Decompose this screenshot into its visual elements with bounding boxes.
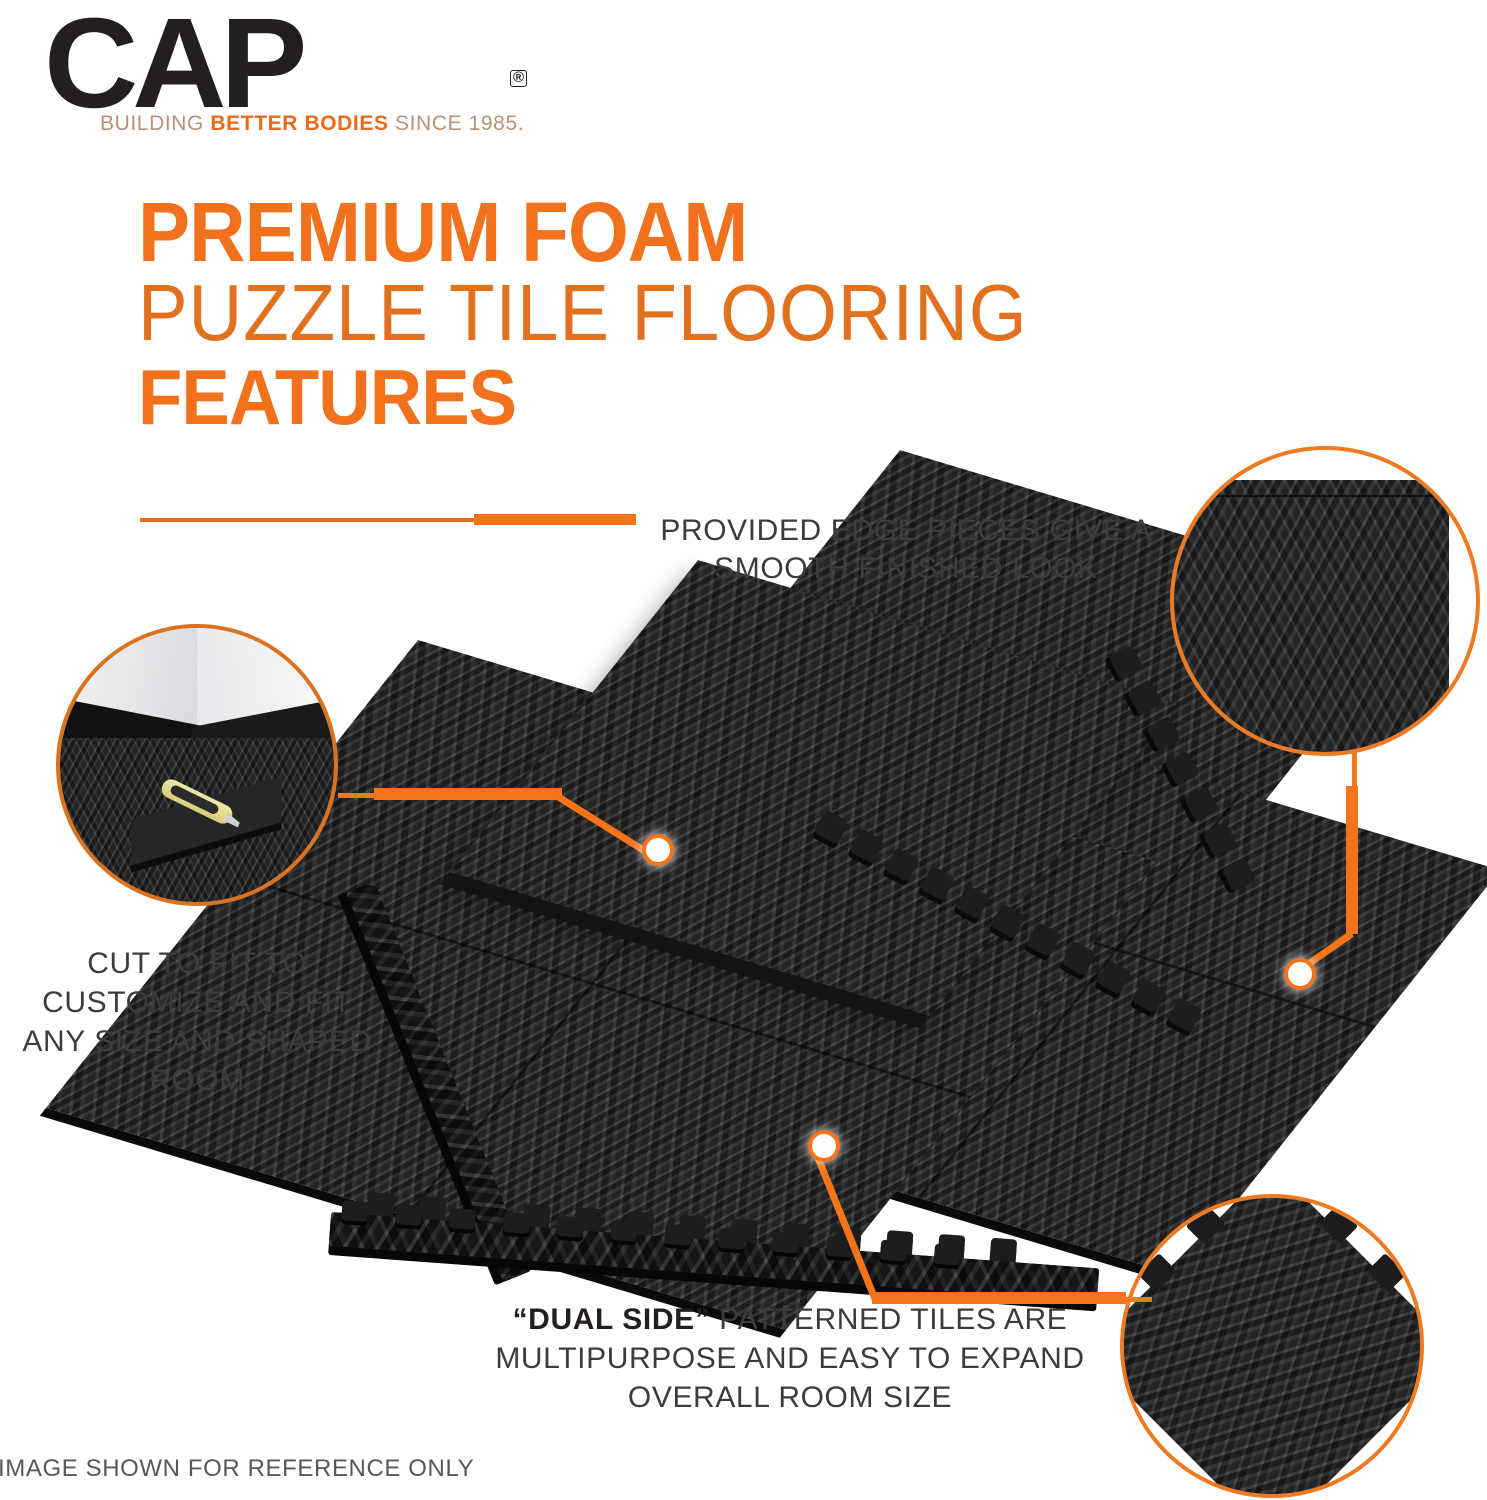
puzzle-tile-corner <box>1120 1194 1424 1498</box>
leader-stem-left <box>338 793 376 798</box>
callout-dual-side: “DUAL SIDE” PATTERNED TILES ARE MULTIPUR… <box>490 1300 1090 1417</box>
tagline-bold: BETTER BODIES <box>210 112 388 135</box>
puzzle-tooth <box>395 1204 422 1226</box>
tagline-pre: BUILDING <box>100 112 210 135</box>
puzzle-tooth <box>449 1208 476 1230</box>
leader-bar-left <box>374 788 562 800</box>
brand-name: CAP <box>44 0 301 128</box>
detail-circle-edge-piece <box>1170 446 1480 756</box>
puzzle-tooth <box>611 1220 638 1242</box>
brand-logo: CAP ® BUILDING BETTER BODIES SINCE 1985. <box>44 8 544 138</box>
divider-thin <box>140 518 480 522</box>
callout-edge-pieces: PROVIDED EDGE PIECES GIVE A SMOOTH FINIS… <box>636 512 1176 589</box>
divider-thick <box>474 514 636 525</box>
callout-dual-side-emphasis: “DUAL SIDE” <box>513 1303 711 1336</box>
brand-tagline: BUILDING BETTER BODIES SINCE 1985. <box>100 112 524 136</box>
infographic-canvas: CAP ® BUILDING BETTER BODIES SINCE 1985.… <box>0 0 1487 1500</box>
puzzle-tooth <box>341 1200 368 1222</box>
puzzle-tooth <box>664 1224 691 1246</box>
tile-seam <box>1170 495 1449 497</box>
puzzle-tooth <box>934 1244 961 1266</box>
leader-dot-tile-edge <box>812 1134 836 1158</box>
callout-cut-to-fit: CUT TO FIT TO CUSTOMIZE AND FIT ANY SIZE… <box>22 944 372 1100</box>
interlocking-corner <box>1120 1194 1424 1498</box>
edge-piece-tile <box>1170 480 1449 756</box>
puzzle-tooth <box>772 1232 799 1254</box>
puzzle-tooth <box>718 1228 745 1250</box>
headline-line-1: PREMIUM FOAM <box>138 196 1208 268</box>
leader-bar-topright <box>1346 786 1358 934</box>
leader-stem-topright <box>1352 752 1357 788</box>
diamond-plate-texture <box>1170 480 1449 756</box>
detail-circle-cut-to-fit <box>56 624 338 906</box>
disclaimer-text: IMAGE SHOWN FOR REFERENCE ONLY <box>0 1455 474 1483</box>
detail-circle-dual-side <box>1120 1194 1424 1498</box>
tagline-post: SINCE 1985. <box>389 112 525 135</box>
headline-line-3: FEATURES <box>138 362 1208 432</box>
diamond-plate-texture <box>1120 1194 1424 1498</box>
registered-trademark-icon: ® <box>510 70 527 87</box>
puzzle-tooth <box>503 1212 530 1234</box>
leader-dot-right-mat <box>1288 962 1312 986</box>
page-title: PREMIUM FOAM PUZZLE TILE FLOORING FEATUR… <box>138 196 1288 432</box>
puzzle-tooth <box>557 1216 584 1238</box>
puzzle-tooth <box>880 1240 907 1262</box>
headline-line-2: PUZZLE TILE FLOORING <box>138 272 1208 354</box>
leader-dot-main-mat <box>646 838 670 862</box>
